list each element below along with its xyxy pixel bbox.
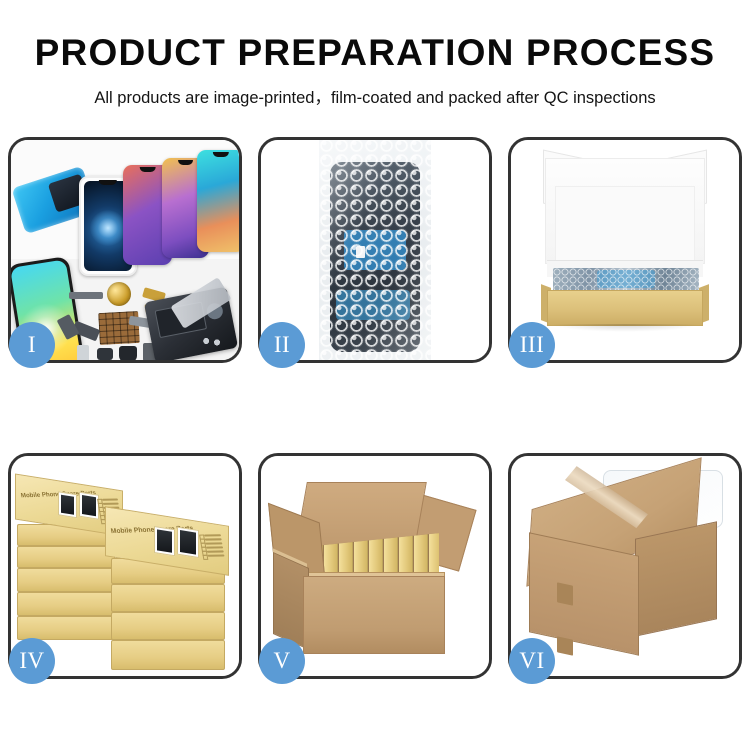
box-feature-checklist [204,534,225,559]
bubble-wrap-gloss [319,140,431,360]
carton-tab-lower [557,636,573,655]
page-header: PRODUCT PREPARATION PROCESS All products… [0,0,750,108]
step-panel-6: VI [508,453,742,679]
spare-part-image [119,346,137,360]
wireless-coil-part-image [107,282,131,306]
box-front-panel [547,290,703,326]
foam-liner-image [555,186,695,268]
retail-box [17,592,115,616]
sealed-carton-side-face [635,521,717,636]
retail-box [111,640,225,670]
retail-box-stack: Mobile Phone Spare Parts Mobile Phone Sp… [17,466,231,672]
step-panel-2: II [258,137,492,363]
step-badge-2: II [259,322,305,368]
step-badge-6: VI [509,638,555,684]
step-badge-1: I [9,322,55,368]
carton-front-face [303,576,445,654]
retail-box [17,568,115,592]
box-artwork-screen [154,526,175,556]
process-steps-grid: I II III [8,137,742,679]
step-panel-4: Mobile Phone Spare Parts Mobile Phone Sp… [8,453,242,679]
step-badge-5: V [259,638,305,684]
spare-part-image [69,292,103,299]
box-artwork-screen [79,492,99,520]
page-subtitle: All products are image-printed，film-coat… [0,84,750,108]
step-panel-1: I [8,137,242,363]
page-title: PRODUCT PREPARATION PROCESS [0,34,750,73]
carton-tab-upper [557,582,573,605]
step-panel-3: III [508,137,742,363]
retail-box [111,584,225,612]
step-panel-5: V [258,453,492,679]
spare-part-image [77,345,89,360]
spare-part-image [97,348,113,360]
screws-image [199,334,223,348]
step-badge-3: III [509,322,555,368]
box-artwork-screen [58,491,77,518]
box-shadow [551,324,699,332]
retail-box [17,616,115,640]
step-badge-4: IV [9,638,55,684]
box-artwork-screen [177,527,199,558]
retail-box [17,546,115,568]
phone-display-gradient-image [197,150,239,252]
retail-box [111,612,225,640]
